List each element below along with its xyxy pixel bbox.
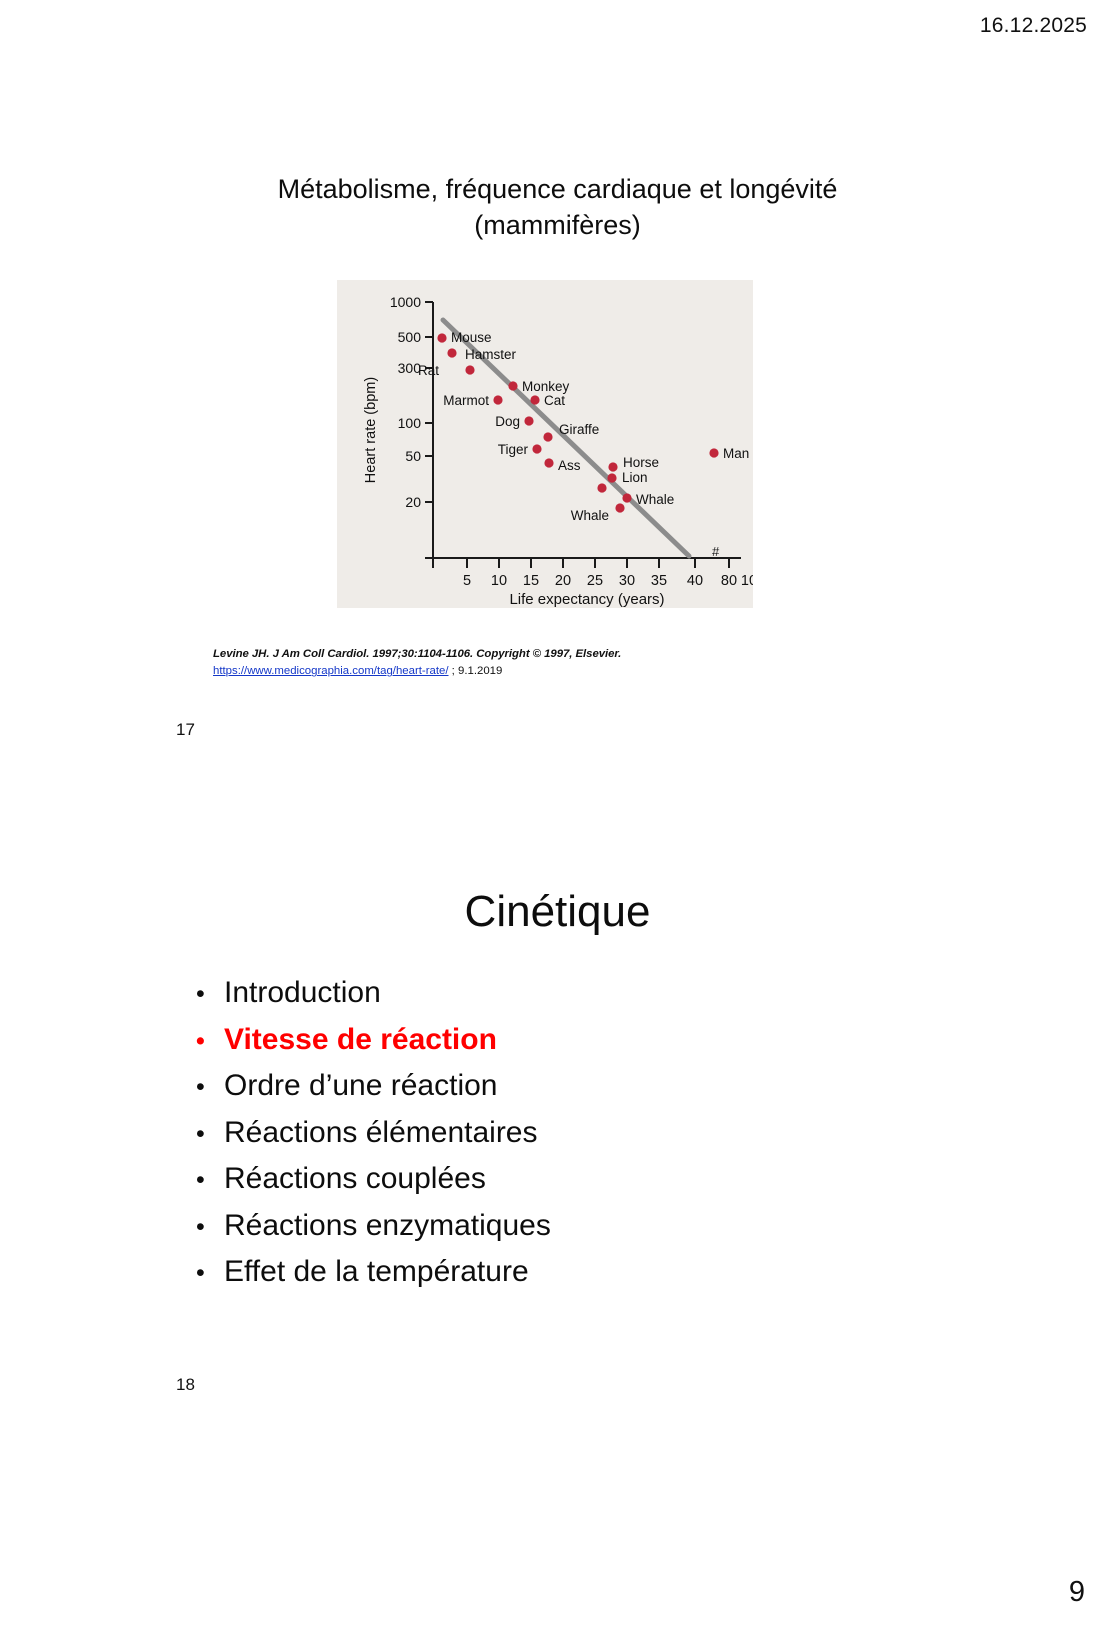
point-tiger [532,444,541,453]
citation-link[interactable]: https://www.medicographia.com/tag/heart-… [213,665,449,677]
list-item-label: Réactions couplées [224,1164,486,1194]
point-lion [607,473,616,482]
point-horse [608,462,617,471]
svg-text:40: 40 [687,573,703,589]
svg-text:30: 30 [619,573,635,589]
svg-text:15: 15 [523,573,539,589]
citation-source-line: https://www.medicographia.com/tag/heart-… [213,663,913,680]
list-item-label: Réactions élémentaires [224,1118,538,1148]
label-man: Man [723,446,749,461]
list-item[interactable]: • Ordre d’une réaction [196,1071,956,1118]
svg-text:20: 20 [405,494,421,510]
point-cat [530,395,539,404]
point-hamster [447,348,456,357]
bullet-icon: • [196,1122,224,1147]
list-item[interactable]: • Réactions couplées [196,1164,956,1211]
list-item-label: Introduction [224,978,381,1008]
label-hamster: Hamster [465,347,517,362]
point-ass [544,458,553,467]
bullet-icon: • [196,1075,224,1100]
list-item-label: Ordre d’une réaction [224,1071,498,1101]
axis-break-mark: # [712,544,720,559]
label-giraffe: Giraffe [559,422,599,437]
x-axis-title: Life expectancy (years) [509,591,664,608]
heart-rate-scatter-plot: 1000 500 300 100 50 20 Heart rate (bpm) [337,280,753,608]
label-monkey: Monkey [522,379,570,394]
slide-17-title-line-2: (mammifères) [0,208,1115,244]
label-whale-right: Whale [636,492,674,507]
svg-text:500: 500 [398,329,422,345]
svg-text:100: 100 [398,415,422,431]
svg-text:20: 20 [555,573,571,589]
point-mouse [437,333,446,342]
label-dog: Dog [495,414,520,429]
citation-block: Levine JH. J Am Coll Cardiol. 1997;30:11… [213,646,913,681]
slide-18-number: 18 [176,1375,195,1395]
point-whale-1 [597,483,606,492]
label-ass: Ass [558,458,581,473]
label-cat: Cat [544,393,565,408]
svg-text:100: 100 [741,573,753,589]
bullet-icon: • [196,982,224,1007]
label-marmot: Marmot [443,393,489,408]
agenda-list: • Introduction • Vitesse de réaction • O… [196,978,956,1304]
list-item[interactable]: • Effet de la température [196,1257,956,1304]
bullet-icon: • [196,1168,224,1193]
label-rat: Rat [418,363,439,378]
page-number: 9 [1069,1576,1085,1609]
label-horse: Horse [623,455,659,470]
slide-17-number: 17 [176,720,195,740]
bullet-icon: • [196,1215,224,1240]
header-date: 16.12.2025 [980,14,1087,38]
list-item[interactable]: • Vitesse de réaction [196,1025,956,1072]
heart-rate-figure: 1000 500 300 100 50 20 Heart rate (bpm) [337,280,753,608]
list-item[interactable]: • Réactions élémentaires [196,1118,956,1165]
bullet-icon: • [196,1261,224,1286]
point-whale-3 [615,503,624,512]
slide-17: Métabolisme, fréquence cardiaque et long… [0,100,1115,770]
point-whale-2 [622,493,631,502]
label-tiger: Tiger [498,442,529,457]
point-marmot [493,395,502,404]
svg-text:10: 10 [491,573,507,589]
point-dog [524,416,533,425]
slide-17-title: Métabolisme, fréquence cardiaque et long… [0,172,1115,243]
point-monkey [508,381,517,390]
slide-18: Cinétique • Introduction • Vitesse de ré… [0,830,1115,1530]
label-lion: Lion [622,470,648,485]
list-item[interactable]: • Réactions enzymatiques [196,1211,956,1258]
label-mouse: Mouse [451,330,492,345]
label-whale-left: Whale [571,508,609,523]
svg-text:35: 35 [651,573,667,589]
svg-text:1000: 1000 [390,294,421,310]
point-rat [465,365,474,374]
svg-text:80: 80 [721,573,737,589]
svg-text:25: 25 [587,573,603,589]
svg-text:5: 5 [463,573,471,589]
list-item[interactable]: • Introduction [196,978,956,1025]
citation-reference: Levine JH. J Am Coll Cardiol. 1997;30:11… [213,646,913,663]
y-axis-title: Heart rate (bpm) [363,377,379,483]
list-item-label: Effet de la température [224,1257,529,1287]
slide-17-title-line-1: Métabolisme, fréquence cardiaque et long… [0,172,1115,208]
list-item-label: Vitesse de réaction [224,1025,497,1055]
citation-access-date: ; 9.1.2019 [449,665,503,677]
list-item-label: Réactions enzymatiques [224,1211,551,1241]
slide-18-title: Cinétique [0,887,1115,937]
point-giraffe [543,432,552,441]
svg-text:50: 50 [405,448,421,464]
bullet-icon: • [196,1029,224,1054]
point-man [709,448,718,457]
